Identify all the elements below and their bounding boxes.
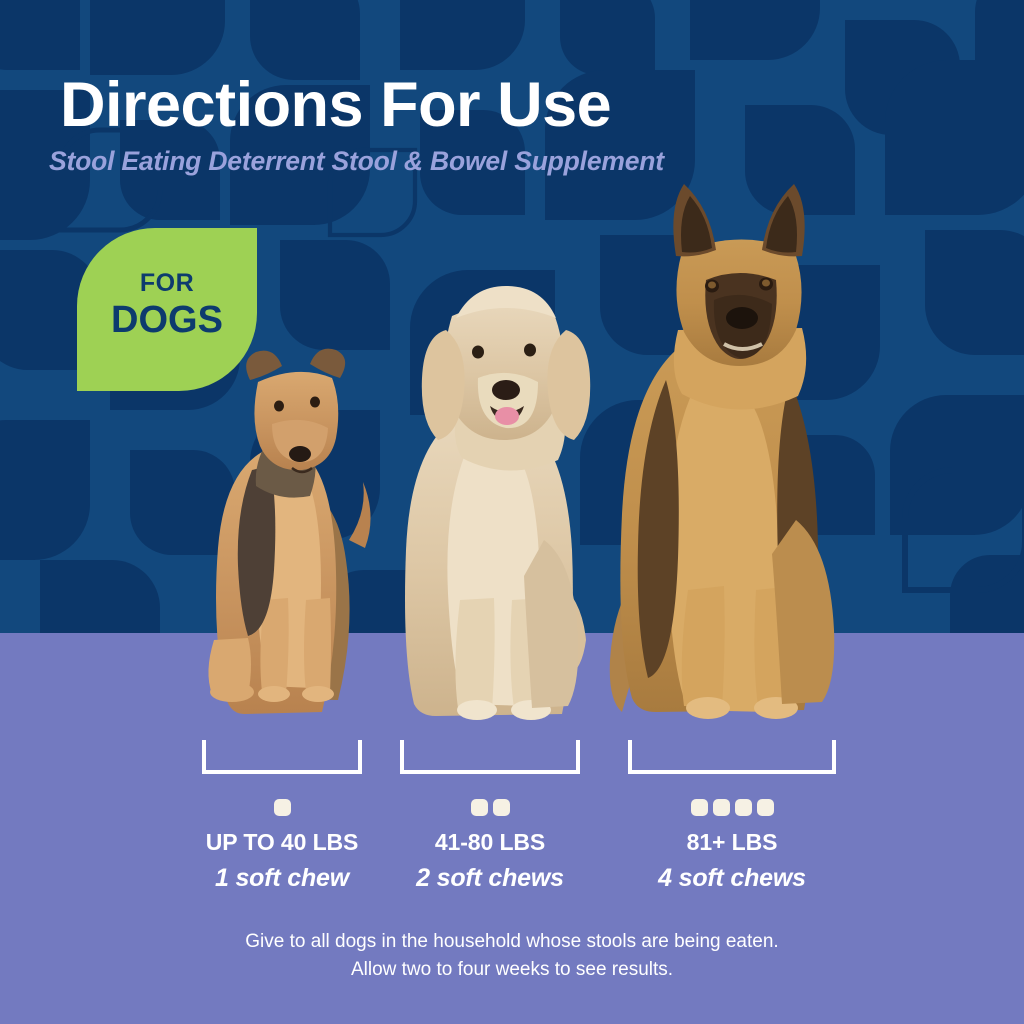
dose-column-41-80: 41-80 LBS 2 soft chews [400,740,580,893]
chew-icon [757,799,774,816]
amount-label-medium: 2 soft chews [400,864,580,893]
footer-line-2: Allow two to four weeks to see results. [0,956,1024,984]
chew-icon [493,799,510,816]
chew-icons-small [188,799,376,817]
dose-column-81-plus: 81+ LBS 4 soft chews [628,740,836,893]
weight-label-medium: 41-80 LBS [400,829,580,856]
for-dogs-badge: FOR DOGS [77,228,257,391]
chew-icon [274,799,291,816]
size-bracket-medium [400,740,580,774]
chew-icon [735,799,752,816]
chew-icon [691,799,708,816]
footer-line-1: Give to all dogs in the household whose … [0,928,1024,956]
badge-line-for: FOR [140,270,194,298]
chew-icon [713,799,730,816]
footer-instructions: Give to all dogs in the household whose … [0,928,1024,983]
amount-label-small: 1 soft chew [188,864,376,893]
weight-label-small: UP TO 40 LBS [188,829,376,856]
amount-label-large: 4 soft chews [628,864,836,893]
size-bracket-large [628,740,836,774]
chew-icons-medium [400,799,580,817]
dosing-chart: UP TO 40 LBS 1 soft chew 41-80 LBS 2 sof… [0,740,1024,910]
page-subtitle: Stool Eating Deterrent Stool & Bowel Sup… [49,146,664,177]
page-title: Directions For Use [60,72,611,138]
weight-label-large: 81+ LBS [628,829,836,856]
chew-icon [471,799,488,816]
badge-line-dogs: DOGS [111,299,223,343]
size-bracket-small [202,740,362,774]
directions-for-use-panel: Directions For Use Stool Eating Deterren… [0,0,1024,1024]
chew-icons-large [628,799,836,817]
dose-column-up-to-40: UP TO 40 LBS 1 soft chew [188,740,376,893]
